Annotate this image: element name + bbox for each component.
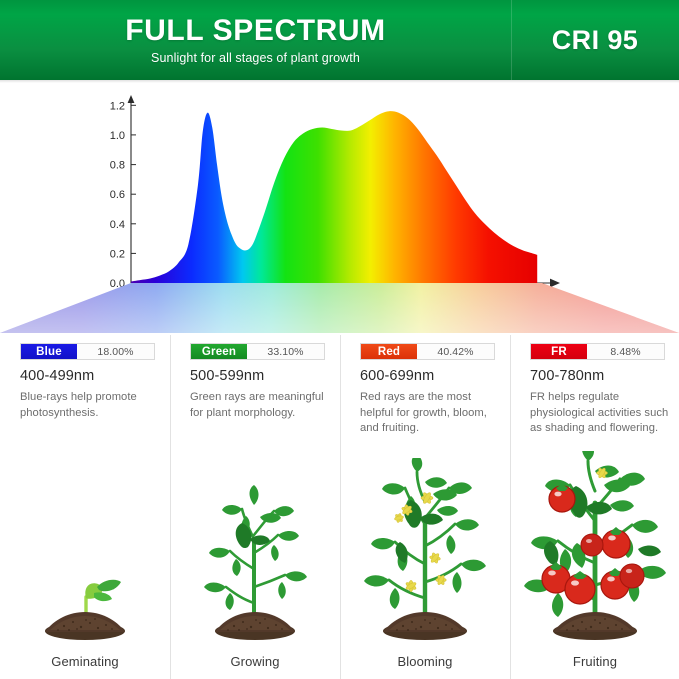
rainbow-fan (0, 283, 679, 335)
spectrum-infographic: FULL SPECTRUM Sunlight for all stages of… (0, 0, 679, 679)
ytick-label: 0.8 (110, 160, 125, 172)
header-right-group: CRI 95 (511, 0, 679, 80)
stage-label: Blooming (340, 654, 510, 669)
band-name: Red (361, 344, 417, 359)
plant-illustration-blooming (340, 458, 510, 641)
stage-label: Growing (170, 654, 340, 669)
page-title: FULL SPECTRUM (125, 15, 386, 47)
band-badge: Green 33.10% (190, 343, 325, 360)
ytick-label: 1.0 (110, 130, 125, 142)
band-name: FR (531, 344, 587, 359)
band-description: FR helps regulate physiological activiti… (530, 390, 670, 437)
band-column-green: Green 33.10% 500-599nm Green rays are me… (170, 335, 340, 679)
band-range: 600-699nm (360, 368, 502, 384)
plant-illustration-fruiting (510, 451, 679, 641)
ytick-label: 0.4 (110, 219, 125, 231)
header-banner: FULL SPECTRUM Sunlight for all stages of… (0, 0, 679, 80)
page-subtitle: Sunlight for all stages of plant growth (151, 51, 360, 65)
ytick-label: 1.2 (110, 100, 125, 112)
band-percent: 40.42% (417, 344, 494, 359)
band-percent: 18.00% (77, 344, 154, 359)
ytick-label: 0.2 (110, 248, 125, 260)
header-left-group: FULL SPECTRUM Sunlight for all stages of… (0, 0, 511, 80)
band-column-fr: FR 8.48% 700-780nm FR helps regulate phy… (510, 335, 679, 679)
band-badge: FR 8.48% (530, 343, 665, 360)
plant-illustration-seedling (0, 541, 170, 641)
band-name: Blue (21, 344, 77, 359)
band-percent: 8.48% (587, 344, 664, 359)
band-description: Green rays are meaningful for plant morp… (190, 390, 330, 421)
band-description: Red rays are the most helpful for growth… (360, 390, 500, 437)
stage-label: Fruiting (510, 654, 679, 669)
band-badge: Red 40.42% (360, 343, 495, 360)
band-range: 400-499nm (20, 368, 162, 384)
spectral-power-curve (131, 111, 537, 283)
band-range: 500-599nm (190, 368, 332, 384)
band-column-red: Red 40.42% 600-699nm Red rays are the mo… (340, 335, 510, 679)
ytick-label: 0.6 (110, 189, 125, 201)
band-badge: Blue 18.00% (20, 343, 155, 360)
plant-illustration-growing (170, 483, 340, 641)
band-percent: 33.10% (247, 344, 324, 359)
band-column-blue: Blue 18.00% 400-499nm Blue-rays help pro… (0, 335, 170, 679)
band-description: Blue-rays help promote photosynthesis. (20, 390, 160, 421)
cri-badge: CRI 95 (552, 25, 638, 56)
band-panels: Blue 18.00% 400-499nm Blue-rays help pro… (0, 335, 679, 679)
stage-label: Geminating (0, 654, 170, 669)
band-name: Green (191, 344, 247, 359)
band-range: 700-780nm (530, 368, 672, 384)
